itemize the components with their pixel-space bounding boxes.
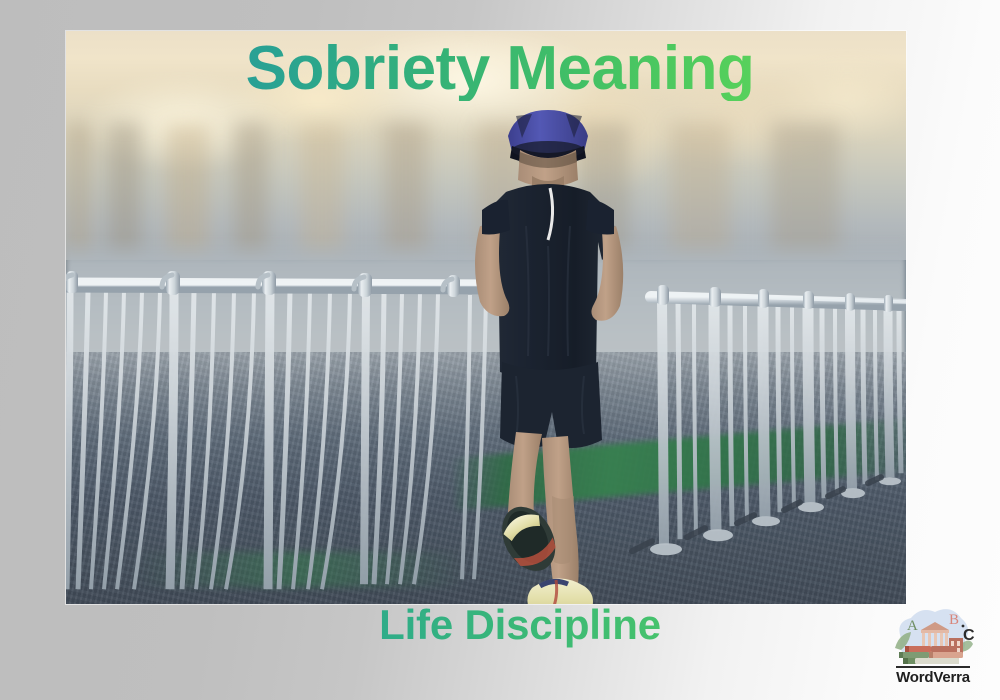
page-title: Sobriety Meaning bbox=[0, 36, 1000, 101]
logo-books bbox=[899, 646, 963, 664]
photo-runner-figure bbox=[446, 76, 656, 604]
image-canvas: Sobriety Meaning Life Discipline bbox=[0, 0, 1000, 700]
hero-photo bbox=[66, 31, 906, 604]
photo-grass-strip-secondary bbox=[133, 552, 469, 586]
logo-letter-c: C bbox=[963, 627, 975, 644]
brand-name: WordVerra bbox=[880, 669, 986, 686]
logo-divider bbox=[896, 666, 970, 668]
brand-logo-mark: A B C bbox=[885, 608, 977, 666]
page-subtitle: Life Discipline bbox=[0, 601, 1000, 649]
runner-shorts bbox=[500, 362, 602, 448]
logo-dot bbox=[962, 625, 965, 628]
logo-letter-b: B bbox=[949, 612, 959, 628]
logo-letter-a: A bbox=[907, 618, 918, 634]
brand-logo[interactable]: A B C WordVerra bbox=[880, 608, 990, 690]
